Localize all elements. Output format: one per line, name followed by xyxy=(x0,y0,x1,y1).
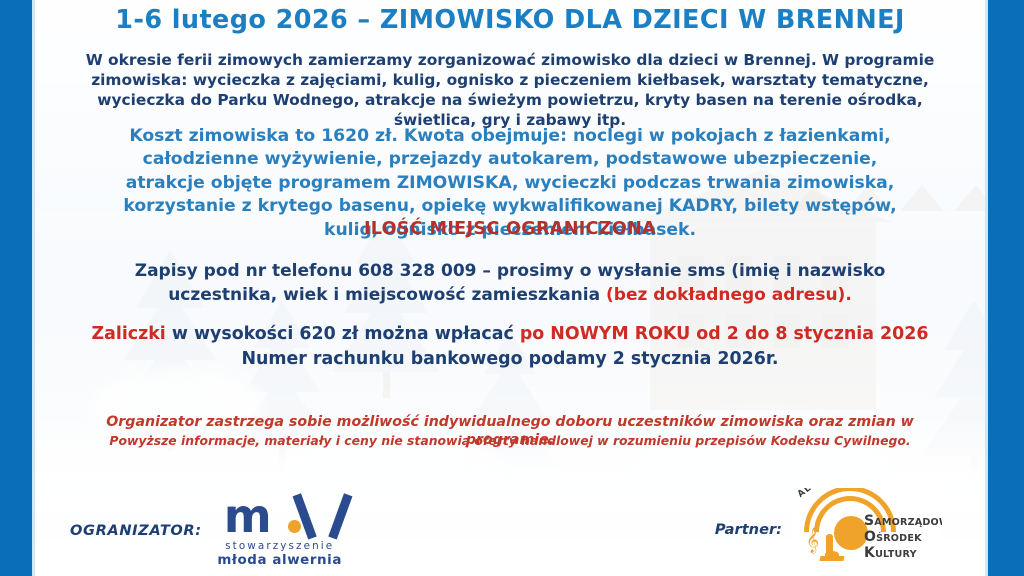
sok-initial-k: K xyxy=(864,545,875,561)
organizer-block: OGRANIZATOR: m stowarzyszenie młoda alwe… xyxy=(70,492,344,568)
signup-red-text: (bez dokładnego adresu). xyxy=(606,285,852,305)
graduation-cap-icon xyxy=(819,556,844,561)
deposit-dates: po NOWYM ROKU od 2 do 8 stycznia 2026 xyxy=(520,324,929,344)
mloda-alwernia-logo[interactable]: m stowarzyszenie młoda alwernia xyxy=(216,492,344,568)
sok-initial-s: S xyxy=(864,513,874,529)
sok-line-1: SAMORZĄDOWY xyxy=(864,514,942,530)
intro-paragraph: W okresie ferii zimowych zamierzamy zorg… xyxy=(32,50,988,130)
ma-logo-orange-dot xyxy=(288,520,301,533)
sun-disc-icon xyxy=(834,516,868,550)
limited-places-notice: ILOŚĆ MIEJSC OGRANICZONA xyxy=(32,218,988,241)
organizer-subtitle-2: młoda alwernia xyxy=(216,553,344,568)
sok-rest-3: ULTURY xyxy=(875,549,917,560)
right-blue-bar xyxy=(988,0,1024,576)
bank-account-note: Numer rachunku bankowego podamy 2 styczn… xyxy=(241,349,778,369)
sok-rest-1: AMORZĄDOWY xyxy=(874,517,942,528)
sok-initial-o: O xyxy=(864,529,876,545)
sok-line-2: OŚRODEK xyxy=(864,530,942,546)
partner-label: Partner: xyxy=(715,521,782,538)
deposit-middle-text: w wysokości 620 zł można wpłacać xyxy=(166,324,520,344)
disclaimer-line-2: Powyższe informacje, materiały i ceny ni… xyxy=(32,433,988,449)
sok-alwernia-logo[interactable]: ALWERNIA 𝄞 SAMORZĄDOWY OŚRODEK KULTURY xyxy=(792,488,942,570)
ma-logo-mark: m xyxy=(216,492,344,538)
poster-root: 1-6 lutego 2026 – ZIMOWISKO DLA DZIECI W… xyxy=(0,0,1024,576)
sok-line-3: KULTURY xyxy=(864,546,942,562)
left-blue-bar xyxy=(0,0,32,576)
deposit-paragraph: Zaliczki w wysokości 620 zł można wpłaca… xyxy=(32,322,988,372)
sok-wordmark: SAMORZĄDOWY OŚRODEK KULTURY xyxy=(864,514,942,562)
signup-paragraph: Zapisy pod nr telefonu 608 328 009 – pro… xyxy=(32,259,988,307)
deposit-keyword: Zaliczki xyxy=(92,324,166,344)
music-note-icon: 𝄞 xyxy=(806,530,819,552)
page-title: 1-6 lutego 2026 – ZIMOWISKO DLA DZIECI W… xyxy=(32,5,988,35)
poster-content: 1-6 lutego 2026 – ZIMOWISKO DLA DZIECI W… xyxy=(32,0,988,576)
partner-block: Partner: ALWERNIA 𝄞 SAMORZĄDOWY OŚRODEK … xyxy=(715,488,942,570)
sok-rest-2: ŚRODEK xyxy=(876,533,922,544)
organizer-subtitle-1: stowarzyszenie xyxy=(216,540,344,552)
ma-logo-letter-m: m xyxy=(224,494,267,538)
organizer-label: OGRANIZATOR: xyxy=(70,522,202,539)
